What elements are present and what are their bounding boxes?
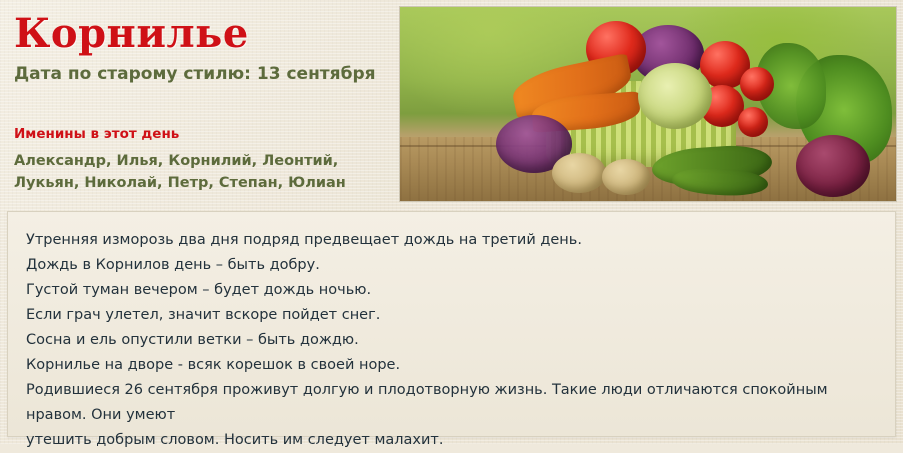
- folk-signs-list: Утренняя изморозь два дня подряд предвещ…: [26, 228, 878, 453]
- list-item: Утренняя изморозь два дня подряд предвещ…: [26, 228, 878, 253]
- list-item: Сосна и ель опустили ветки – быть дождю.: [26, 328, 878, 353]
- namesday-names: Александр, Илья, Корнилий, Леонтий, Лукь…: [14, 150, 374, 195]
- old-style-date: Дата по старому стилю: 13 сентября: [14, 64, 376, 84]
- folk-signs-panel: Утренняя изморозь два дня подряд предвещ…: [7, 211, 896, 437]
- footer-strip: [0, 438, 903, 444]
- page-root: Корнилье Дата по старому стилю: 13 сентя…: [0, 0, 903, 444]
- list-item: Родившиеся 26 сентября проживут долгую и…: [26, 378, 878, 428]
- page-title: Корнилье: [14, 14, 249, 54]
- list-item: Корнилье на дворе - всяк корешок в своей…: [26, 353, 878, 378]
- header: Корнилье Дата по старому стилю: 13 сентя…: [0, 0, 903, 205]
- list-item: Густой туман вечером – будет дождь ночью…: [26, 278, 878, 303]
- tomato: [740, 67, 774, 101]
- tomato: [738, 107, 768, 137]
- cabbage: [638, 63, 712, 129]
- photo-background: [400, 7, 896, 201]
- namesday-heading: Именины в этот день: [14, 126, 179, 142]
- list-item: Если грач улетел, значит вскоре пойдет с…: [26, 303, 878, 328]
- beet: [796, 135, 870, 197]
- potato: [602, 159, 650, 195]
- list-item: Дождь в Корнилов день – быть добру.: [26, 253, 878, 278]
- potato: [552, 153, 606, 193]
- vegetables-photo: [399, 6, 897, 202]
